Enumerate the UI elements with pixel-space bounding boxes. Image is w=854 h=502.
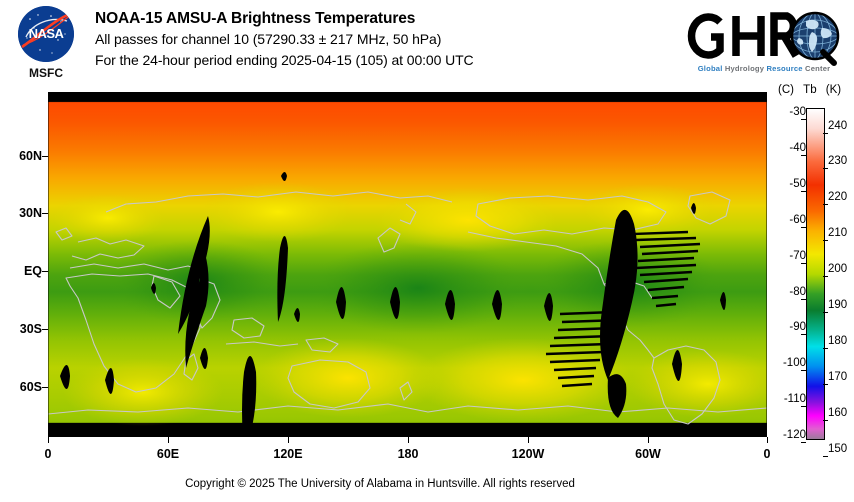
colorbar-c-tick-7 bbox=[801, 370, 806, 371]
channel-subtitle: All passes for channel 10 (57290.33 ± 21… bbox=[95, 29, 695, 50]
x-tick-120w bbox=[528, 437, 529, 443]
x-tick-label-60e: 60E bbox=[138, 447, 198, 461]
colorbar-c-tick-3 bbox=[801, 227, 806, 228]
y-tick-label-30n: 30N bbox=[2, 206, 42, 220]
nasa-wordmark: NASA bbox=[18, 27, 74, 40]
colorbar-k-label-3: 210 bbox=[828, 227, 854, 239]
x-tick-label-120w: 120W bbox=[498, 447, 558, 461]
y-tick-60n bbox=[42, 156, 48, 157]
colorbar-c-label-3: -60 bbox=[772, 214, 806, 226]
colorbar-header: (C) Tb (K) bbox=[778, 84, 854, 96]
y-tick-30s bbox=[42, 329, 48, 330]
colorbar-c-label-6: -90 bbox=[772, 321, 806, 333]
screenshot-root: NASA MSFC NOAA-15 AMSU-A Brightness Temp… bbox=[0, 0, 854, 502]
y-tick-label-eq: EQ bbox=[2, 264, 42, 278]
x-tick-label-0b: 0 bbox=[737, 447, 797, 461]
x-tick-180 bbox=[408, 437, 409, 443]
colorbar-c-tick-8 bbox=[801, 406, 806, 407]
colorbar-c-label-4: -70 bbox=[772, 250, 806, 262]
colorbar-k-label-1: 230 bbox=[828, 155, 854, 167]
colorbar bbox=[806, 108, 825, 440]
colorbar-k-label-0: 240 bbox=[828, 120, 854, 132]
colorbar-c-label-0: -30 bbox=[772, 106, 806, 118]
colorbar-k-tick-3 bbox=[823, 240, 828, 241]
colorbar-unit-c: (C) bbox=[778, 84, 794, 96]
ghrc-word-3: Center bbox=[805, 64, 830, 73]
period-subtitle: For the 24-hour period ending 2025-04-15… bbox=[95, 50, 695, 71]
colorbar-c-label-1: -40 bbox=[772, 142, 806, 154]
colorbar-k-tick-6 bbox=[823, 348, 828, 349]
colorbar-k-label-4: 200 bbox=[828, 263, 854, 275]
colorbar-c-tick-0 bbox=[801, 119, 806, 120]
colorbar-c-tick-1 bbox=[801, 155, 806, 156]
brightness-temperature-map bbox=[48, 92, 767, 437]
ghrc-word-2: Resource bbox=[767, 64, 803, 73]
x-tick-0b bbox=[767, 437, 768, 443]
y-tick-60s bbox=[42, 387, 48, 388]
y-tick-label-60s: 60S bbox=[2, 380, 42, 394]
x-tick-label-180: 180 bbox=[378, 447, 438, 461]
x-tick-label-0a: 0 bbox=[18, 447, 78, 461]
colorbar-k-tick-7 bbox=[823, 384, 828, 385]
colorbar-c-label-9: -120 bbox=[772, 429, 806, 441]
x-tick-120e bbox=[288, 437, 289, 443]
colorbar-k-label-8: 160 bbox=[828, 407, 854, 419]
colorbar-k-label-9: 150 bbox=[828, 443, 854, 455]
page-title: NOAA-15 AMSU-A Brightness Temperatures bbox=[95, 9, 695, 29]
nasa-logo: NASA MSFC bbox=[10, 6, 82, 84]
x-tick-0a bbox=[48, 437, 49, 443]
colorbar-c-label-8: -110 bbox=[772, 393, 806, 405]
y-tick-30n bbox=[42, 213, 48, 214]
colorbar-variable: Tb bbox=[803, 84, 816, 96]
ghrc-tagline: Global Hydrology Resource Center bbox=[684, 64, 844, 73]
colorbar-c-label-2: -50 bbox=[772, 178, 806, 190]
colorbar-k-tick-1 bbox=[823, 168, 828, 169]
colorbar-k-tick-5 bbox=[823, 312, 828, 313]
x-tick-label-60w: 60W bbox=[618, 447, 678, 461]
y-tick-label-60n: 60N bbox=[2, 149, 42, 163]
colorbar-k-tick-2 bbox=[823, 204, 828, 205]
ghrc-mark-icon bbox=[684, 8, 850, 66]
ghrc-logo: Global Hydrology Resource Center bbox=[684, 8, 850, 80]
colorbar-k-label-7: 170 bbox=[828, 371, 854, 383]
colorbar-gradient bbox=[807, 109, 824, 439]
colorbar-c-tick-4 bbox=[801, 263, 806, 264]
colorbar-k-tick-9 bbox=[823, 456, 828, 457]
colorbar-k-tick-8 bbox=[823, 420, 828, 421]
colorbar-k-tick-4 bbox=[823, 276, 828, 277]
colorbar-k-tick-0 bbox=[823, 133, 828, 134]
x-tick-60w bbox=[648, 437, 649, 443]
colorbar-c-tick-2 bbox=[801, 191, 806, 192]
colorbar-c-tick-5 bbox=[801, 299, 806, 300]
x-tick-60e bbox=[168, 437, 169, 443]
y-tick-label-30s: 30S bbox=[2, 322, 42, 336]
ghrc-word-0: Global bbox=[698, 64, 723, 73]
colorbar-k-label-6: 180 bbox=[828, 335, 854, 347]
copyright-text: Copyright © 2025 The University of Alaba… bbox=[0, 478, 760, 490]
title-block: NOAA-15 AMSU-A Brightness Temperatures A… bbox=[95, 9, 695, 71]
msfc-label: MSFC bbox=[10, 66, 82, 80]
x-tick-label-120e: 120E bbox=[258, 447, 318, 461]
colorbar-k-label-5: 190 bbox=[828, 299, 854, 311]
colorbar-c-tick-6 bbox=[801, 334, 806, 335]
colorbar-k-label-2: 220 bbox=[828, 191, 854, 203]
colorbar-c-label-5: -80 bbox=[772, 286, 806, 298]
nasa-meatball-icon: NASA bbox=[18, 6, 74, 62]
colorbar-c-tick-9 bbox=[801, 442, 806, 443]
ghrc-word-1: Hydrology bbox=[725, 64, 764, 73]
colorbar-c-label-7: -100 bbox=[772, 357, 806, 369]
y-tick-eq bbox=[42, 271, 48, 272]
colorbar-unit-k: (K) bbox=[826, 84, 841, 96]
